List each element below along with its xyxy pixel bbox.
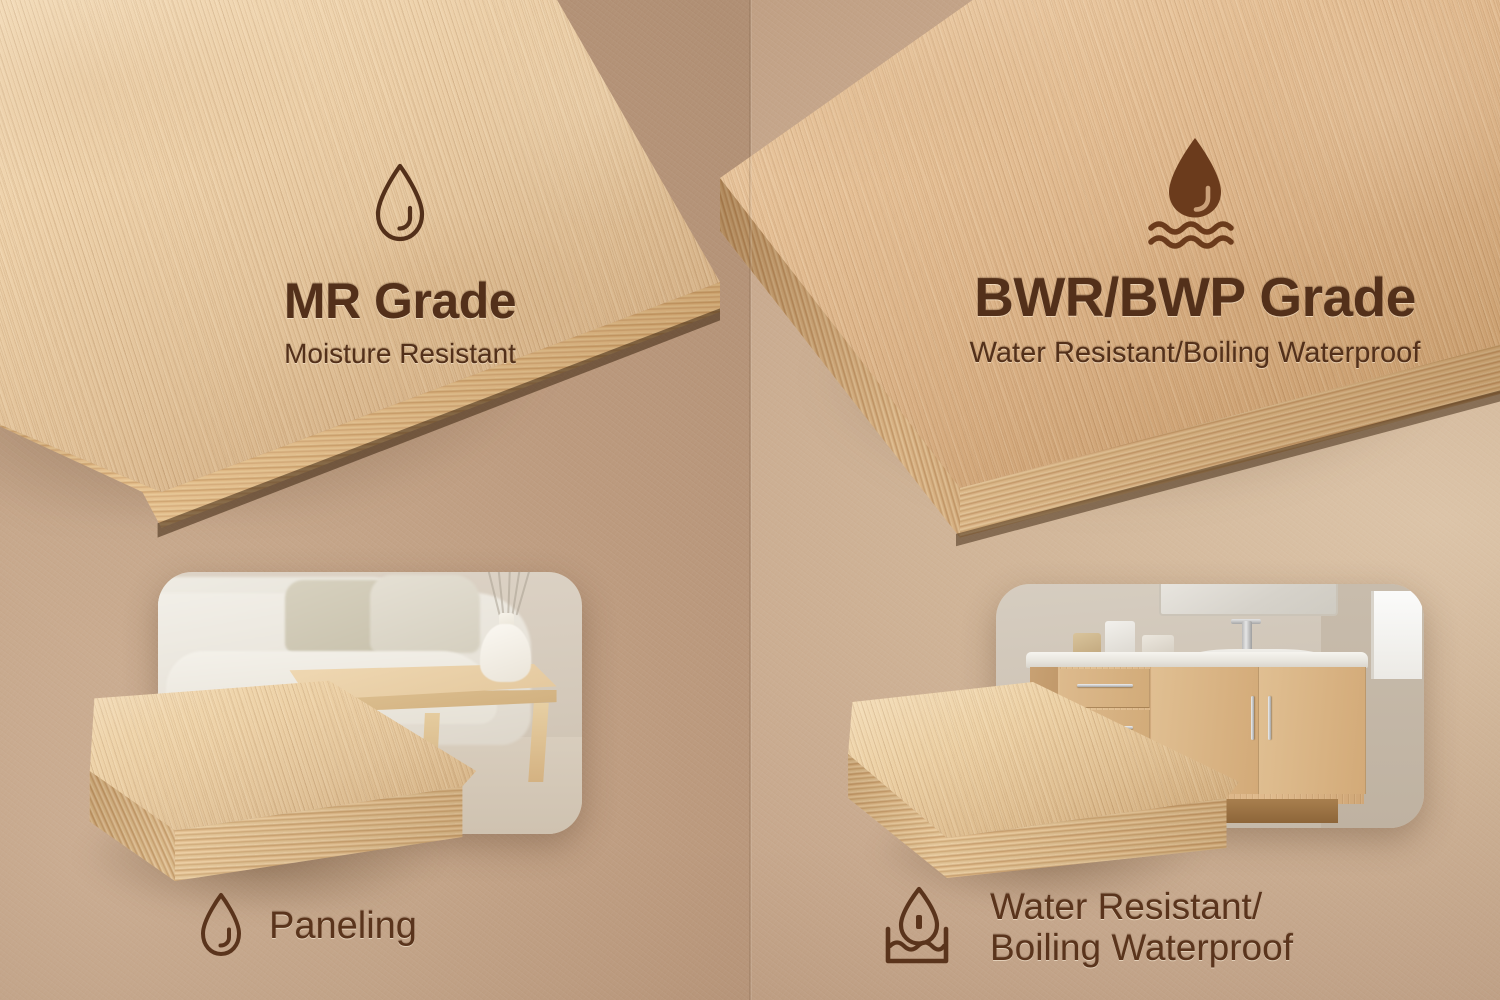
photo-door-handle-right xyxy=(1268,696,1271,740)
panel-divider xyxy=(749,0,752,1000)
photo-mirror xyxy=(1159,584,1339,616)
water-droplet-basin-icon xyxy=(882,885,968,969)
water-droplet-waves-icon xyxy=(915,130,1475,250)
panel-mr-grade: MR Grade Moisture Resistant xyxy=(0,0,750,1000)
caption-paneling: Paneling xyxy=(195,890,417,962)
hero-subtitle: Moisture Resistant xyxy=(180,340,620,368)
water-droplet-outline-icon xyxy=(180,160,620,250)
photo-reed-diffuser-sticks xyxy=(489,572,527,617)
caption-water-resistant: Water Resistant/ Boiling Waterproof xyxy=(882,885,1293,969)
hero-title: MR Grade xyxy=(180,276,620,326)
photo-door-handle-left xyxy=(1251,696,1254,740)
plywood-slab-right xyxy=(818,678,1248,878)
hero-label-bwr-bwp-grade: BWR/BWP Grade Water Resistant/Boiling Wa… xyxy=(915,130,1475,368)
photo-window xyxy=(1371,591,1422,679)
caption-label: Water Resistant/ Boiling Waterproof xyxy=(990,886,1293,969)
photo-countertop xyxy=(1026,652,1368,668)
infographic-stage: MR Grade Moisture Resistant xyxy=(0,0,1500,1000)
caption-label: Paneling xyxy=(269,905,417,948)
photo-cushion-right xyxy=(370,575,480,654)
plywood-slab-left xyxy=(30,672,490,892)
photo-dispenser xyxy=(1105,621,1135,655)
hero-subtitle: Water Resistant/Boiling Waterproof xyxy=(915,339,1475,368)
photo-cabinet-door-right xyxy=(1259,667,1366,794)
hero-label-mr-grade: MR Grade Moisture Resistant xyxy=(180,160,620,368)
water-droplet-outline-icon xyxy=(195,890,247,962)
hero-title: BWR/BWP Grade xyxy=(915,270,1475,325)
